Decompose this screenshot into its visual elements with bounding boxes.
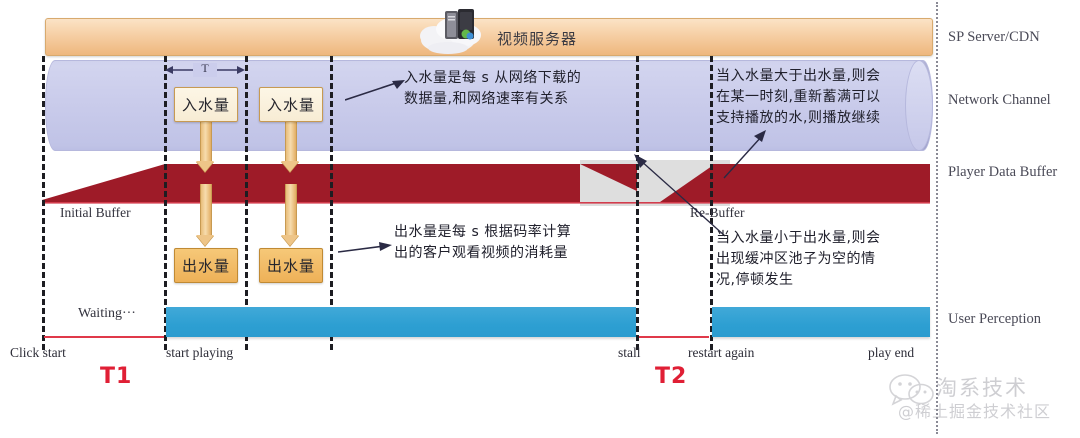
row-label-player-data-buffer: Player Data Buffer	[948, 164, 1057, 181]
row-label-sp-server-cdn: SP Server/CDN	[948, 29, 1040, 46]
outflow-box-1-label: 出水量	[182, 255, 230, 276]
inflow-arrow-1	[196, 120, 214, 172]
inflow-box-1: 入水量	[174, 87, 238, 122]
player-data-buffer-band	[0, 160, 1080, 206]
outflow-box-2: 出水量	[259, 248, 323, 283]
playback-bar-2	[712, 307, 930, 337]
initial-buffer-caption: Initial Buffer	[60, 205, 131, 221]
diagram-canvas: 视频服务器 T 入水量	[0, 0, 1080, 438]
outflow-explanation-line-1: 出水量是每 s 根据码率计算	[394, 222, 571, 243]
row-label-user-perception: User Perception	[948, 311, 1041, 328]
inflow-explanation-line-1: 入水量是每 s 从网络下载的	[404, 68, 581, 89]
period-marker: T	[165, 62, 245, 80]
stall-explanation-line-1: 当入水量小于出水量,则会	[716, 228, 880, 249]
waiting-stall-line-1	[44, 336, 164, 338]
stall-explanation: 当入水量小于出水量,则会 出现缓冲区池子为空的情 况,停顿发生	[716, 228, 880, 291]
interval-t2: T2	[655, 364, 687, 389]
guide-period-2	[330, 56, 333, 350]
watermark-line-2: @稀土掘金技术社区	[898, 398, 1051, 422]
interval-t1: T1	[100, 364, 132, 389]
inflow-box-2: 入水量	[259, 87, 323, 122]
refill-explanation: 当入水量大于出水量,则会 在某一时刻,重新蓄满可以 支持播放的水,则播放继续	[716, 66, 880, 129]
outflow-explanation-line-2: 出的客户观看视频的消耗量	[394, 243, 571, 264]
inflow-box-1-label: 入水量	[182, 94, 230, 115]
refill-explanation-line-2: 在某一时刻,重新蓄满可以	[716, 87, 880, 108]
inflow-explanation-leader	[345, 78, 407, 102]
guide-click-start	[42, 56, 45, 350]
tick-click-start: Click start	[10, 345, 66, 361]
tick-start-playing: start playing	[166, 345, 233, 361]
outflow-arrow-2	[281, 184, 299, 246]
waiting-stall-line-2	[639, 336, 709, 338]
tick-stall: stall	[618, 345, 641, 361]
stall-explanation-line-2: 出现缓冲区池子为空的情	[716, 249, 880, 270]
guide-period-1	[245, 56, 248, 350]
playback-bar-1	[166, 307, 636, 337]
inflow-explanation-line-2: 数据量,和网络速率有关系	[404, 89, 581, 110]
outflow-explanation: 出水量是每 s 根据码率计算 出的客户观看视频的消耗量	[394, 222, 571, 264]
period-marker-label: T	[165, 61, 245, 76]
tick-play-end: play end	[868, 345, 914, 361]
refill-explanation-line-3: 支持播放的水,则播放继续	[716, 108, 880, 129]
inflow-arrow-2	[281, 120, 299, 172]
stall-explanation-leader	[620, 150, 730, 240]
outflow-explanation-leader	[338, 236, 394, 256]
watermark: 淘系技术 @稀土掘金技术社区	[888, 374, 1074, 430]
outflow-box-1: 出水量	[174, 248, 238, 283]
outflow-box-2-label: 出水量	[267, 255, 315, 276]
server-band-label: 视频服务器	[497, 28, 577, 49]
refill-explanation-line-1: 当入水量大于出水量,则会	[716, 66, 880, 87]
tick-restart-again: restart again	[688, 345, 754, 361]
waiting-label: Waiting···	[78, 306, 136, 322]
stall-explanation-line-3: 况,停顿发生	[716, 270, 880, 291]
row-label-network-channel: Network Channel	[948, 92, 1051, 109]
outflow-arrow-1	[196, 184, 214, 246]
guide-start-playing	[164, 56, 167, 350]
inflow-box-2-label: 入水量	[267, 94, 315, 115]
inflow-explanation: 入水量是每 s 从网络下载的 数据量,和网络速率有关系	[404, 68, 581, 110]
guide-right-margin	[936, 2, 938, 434]
